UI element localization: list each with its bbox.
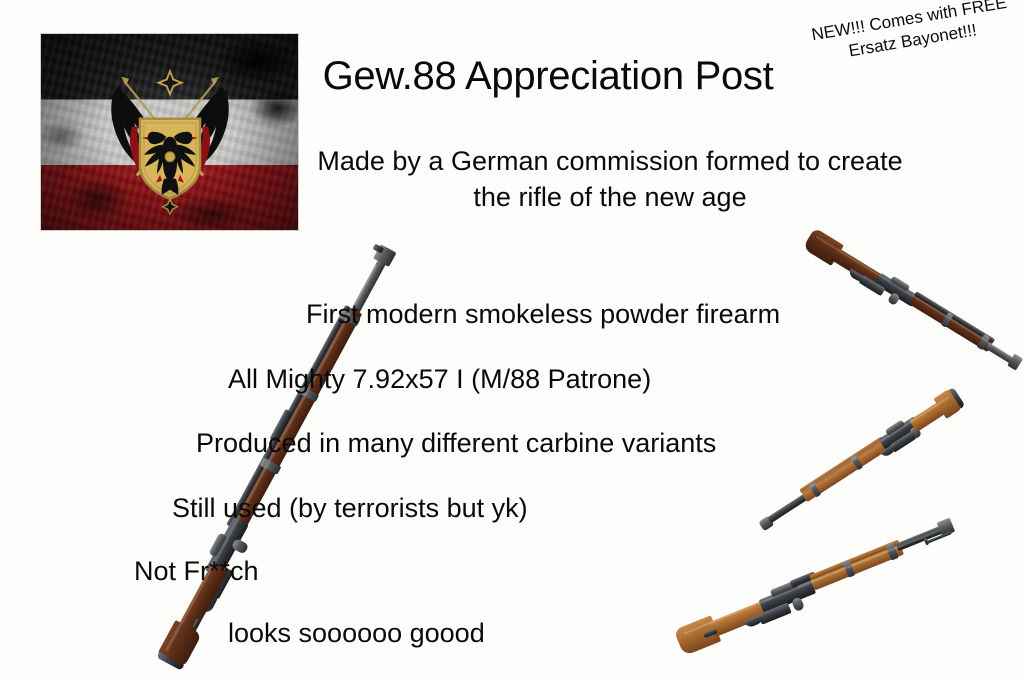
kar-88-carbine-middle-right	[753, 386, 966, 538]
page-title: Gew.88 Appreciation Post	[0, 54, 1024, 99]
meme-canvas: NEW!!! Comes with FREE Ersatz Bayonet!!!…	[0, 0, 1024, 682]
gew-88-rifle-top-right	[800, 226, 1024, 380]
body-line-6: looks soooooo goood	[228, 618, 485, 649]
subtitle: Made by a German commission formed to cr…	[300, 143, 920, 215]
kar-88-carbine-bottom-right	[673, 515, 964, 659]
body-line-1: First modern smokeless powder firearm	[306, 299, 780, 330]
body-line-2: All Mighty 7.92x57 I (M/88 Patrone)	[228, 364, 651, 395]
body-line-5: Not Fr**ch	[134, 556, 259, 587]
body-line-3: Produced in many different carbine varia…	[196, 428, 716, 459]
body-line-4: Still used (by terrorists but yk)	[172, 493, 528, 524]
